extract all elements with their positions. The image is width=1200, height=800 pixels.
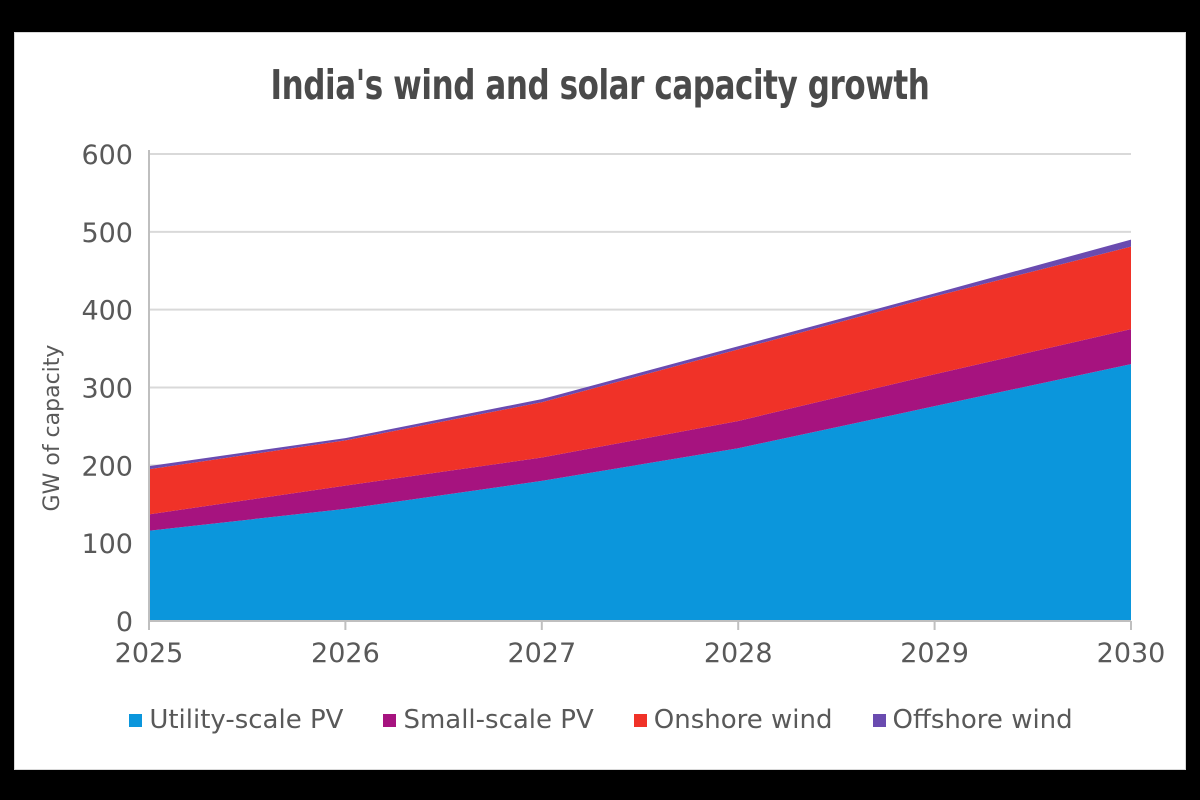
y-axis-tick-label: 0 xyxy=(116,607,133,638)
y-axis-tick-label: 100 xyxy=(81,529,133,560)
legend-item-offshore-wind[interactable]: Offshore wind xyxy=(873,705,1073,735)
y-axis-tick-label: 400 xyxy=(81,296,133,327)
legend-item-small-scale-pv[interactable]: Small-scale PV xyxy=(383,705,593,735)
y-axis-title-group: GW of capacity xyxy=(40,345,65,512)
area-series-group[interactable] xyxy=(149,240,1131,621)
legend-swatch-icon xyxy=(383,714,396,727)
y-axis-tick-label: 600 xyxy=(81,140,133,171)
y-axis-tick-labels: 0100200300400500600 xyxy=(81,140,133,638)
plot-area: 0100200300400500600 20252026202720282029… xyxy=(15,33,1187,771)
legend-swatch-icon xyxy=(634,714,647,727)
chart-legend: Utility-scale PVSmall-scale PVOnshore wi… xyxy=(15,705,1187,735)
y-axis-tick-label: 500 xyxy=(81,218,133,249)
legend-swatch-icon xyxy=(873,714,886,727)
x-axis-tick-label: 2028 xyxy=(704,638,773,669)
stacked-area-chart: 0100200300400500600 20252026202720282029… xyxy=(15,33,1187,771)
legend-label: Small-scale PV xyxy=(403,705,593,735)
y-axis-tick-label: 300 xyxy=(81,374,133,405)
chart-card: India's wind and solar capacity growth 0… xyxy=(14,32,1186,770)
x-axis-tick-label: 2026 xyxy=(311,638,380,669)
screenshot-frame: India's wind and solar capacity growth 0… xyxy=(0,0,1200,800)
x-axis-tick-label: 2025 xyxy=(115,638,184,669)
y-axis-title: GW of capacity xyxy=(40,345,65,512)
legend-item-utility-scale-pv[interactable]: Utility-scale PV xyxy=(129,705,343,735)
legend-swatch-icon xyxy=(129,714,142,727)
legend-item-onshore-wind[interactable]: Onshore wind xyxy=(634,705,833,735)
legend-label: Onshore wind xyxy=(654,705,833,735)
x-axis-tick-label: 2030 xyxy=(1097,638,1166,669)
x-axis-tick-labels: 202520262027202820292030 xyxy=(115,638,1166,669)
x-axis-tick-label: 2029 xyxy=(900,638,969,669)
legend-label: Offshore wind xyxy=(893,705,1073,735)
legend-label: Utility-scale PV xyxy=(149,705,343,735)
x-axis-tick-label: 2027 xyxy=(507,638,576,669)
y-axis-tick-label: 200 xyxy=(81,451,133,482)
